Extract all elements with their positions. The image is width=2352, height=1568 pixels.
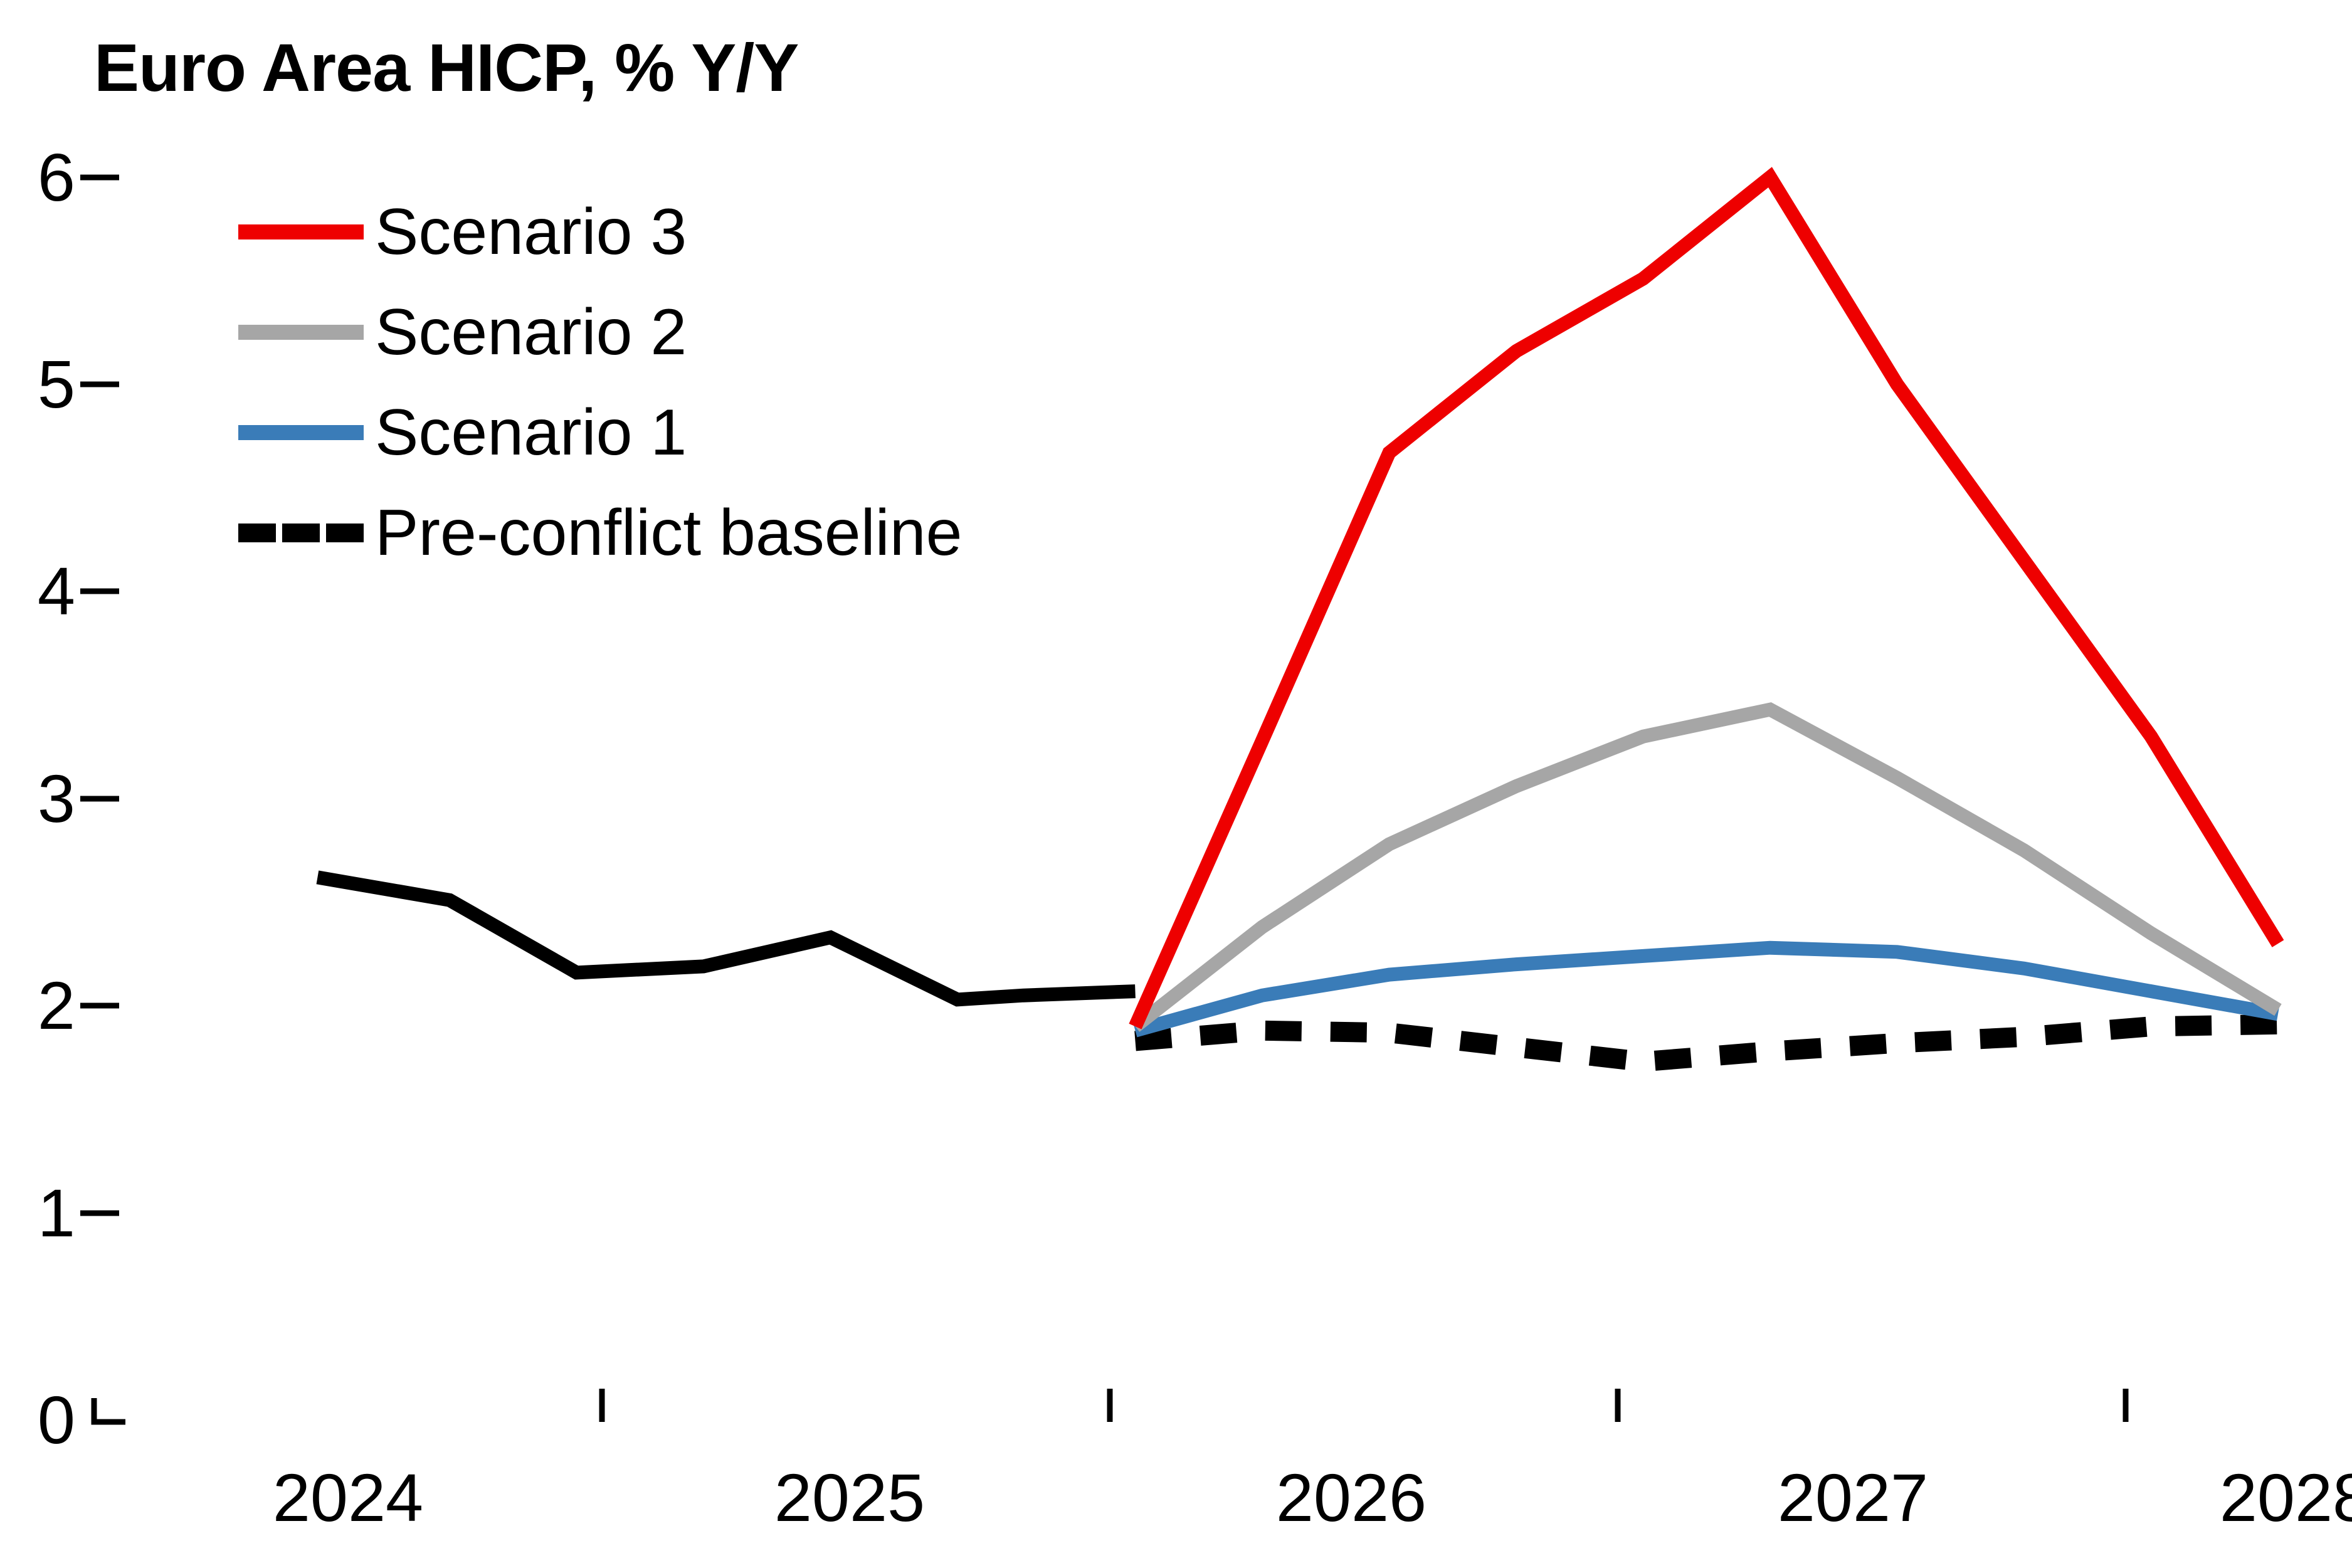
plot-area <box>0 0 2352 1568</box>
series-layer <box>317 177 2278 1062</box>
series-line-pre-conflict-baseline <box>1136 1024 2279 1062</box>
origin-corner-mark <box>94 1398 125 1422</box>
x-axis-ticks <box>602 1389 2126 1422</box>
chart-container: Euro Area HICP, % Y/Y 6 5 4 3 2 1 0 2024… <box>0 0 2352 1568</box>
series-line-historical <box>317 877 1135 999</box>
y-axis-ticks <box>80 177 119 1213</box>
series-line-scenario-1 <box>1136 948 2279 1031</box>
axis-origin-corner <box>94 1398 125 1422</box>
